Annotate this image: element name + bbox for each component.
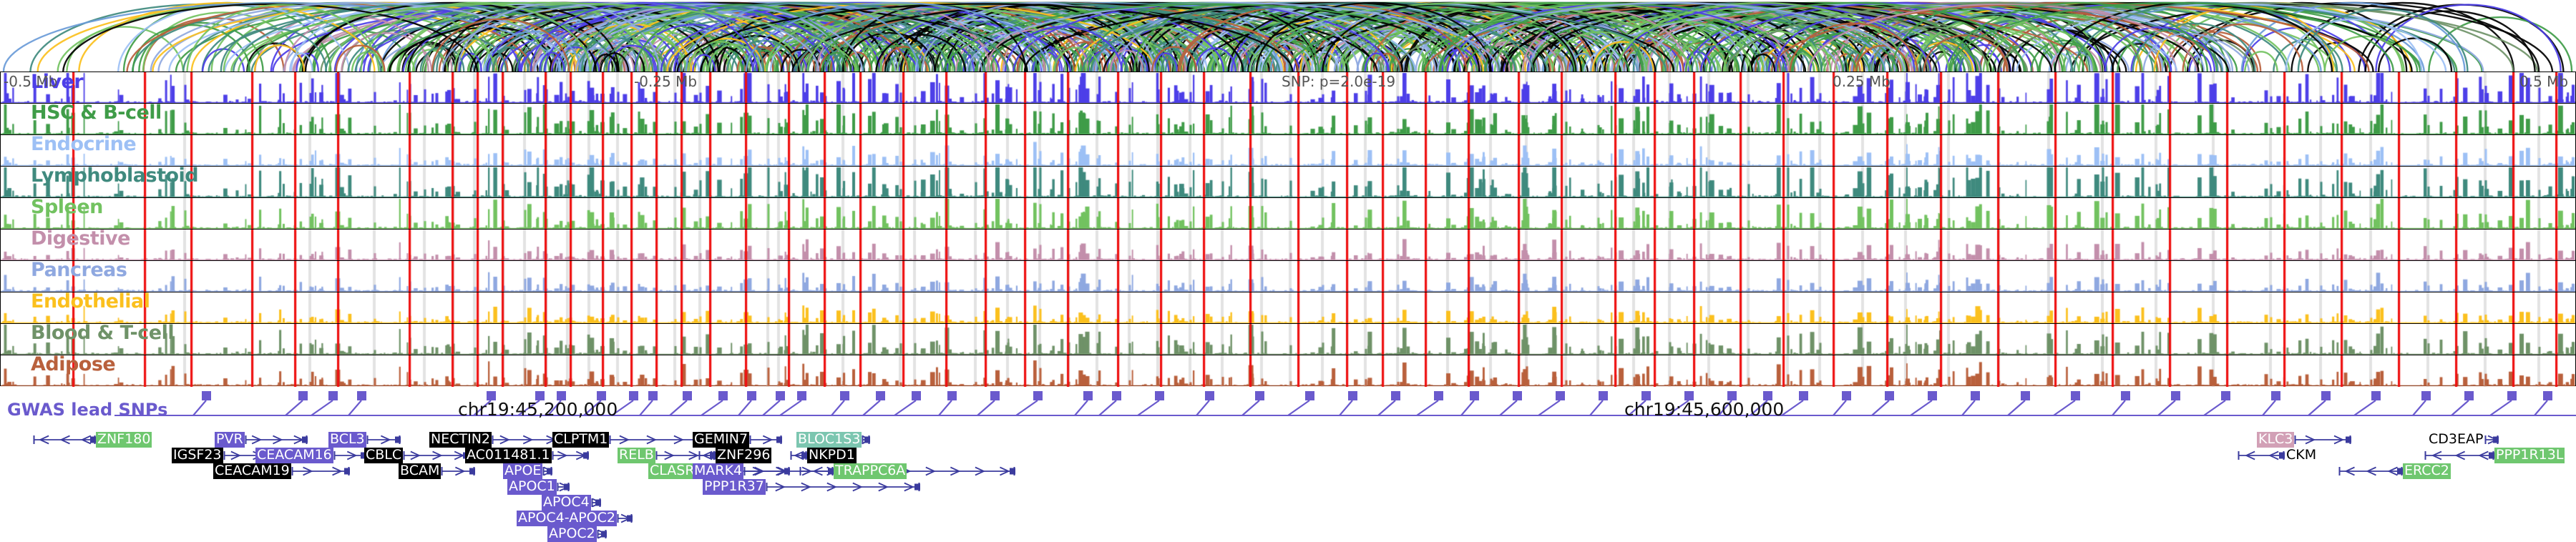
gene-apoc4-apoc2[interactable]: APOC4-APOC2	[517, 511, 633, 526]
gene-apoc1[interactable]: APOC1	[507, 479, 570, 494]
gene-apoc4[interactable]: APOC4	[542, 495, 601, 510]
track-row-lymphoblastoid[interactable]: Lymphoblastoid	[1, 167, 2575, 198]
genome-browser: Liver-0.5 Mb-0.25 MbSNP: p=2.0e-190.25 M…	[0, 0, 2576, 536]
gene-bcam[interactable]: BCAM	[399, 463, 475, 478]
gene-body-icon	[766, 481, 920, 493]
gene-body-icon	[617, 512, 633, 525]
gene-body-icon	[441, 465, 475, 478]
gene-label: NECTIN2	[429, 432, 492, 448]
gene-cd3eap[interactable]: CD3EAP	[2427, 432, 2499, 447]
track-row-hsc-b-cell[interactable]: HSC & B-cell	[1, 104, 2575, 135]
gene-label: APOC4-APOC2	[517, 511, 617, 526]
gene-znf296[interactable]: ZNF296	[698, 448, 771, 463]
gene-ckm[interactable]: CKM	[2238, 448, 2318, 463]
gene-label: ERCC2	[2403, 463, 2451, 479]
gene-gemin7[interactable]: GEMIN7	[693, 432, 782, 447]
gene-trappc6a[interactable]: TRAPPC6A	[799, 463, 907, 478]
gene-body-icon	[591, 496, 601, 509]
gene-klc3[interactable]: KLC3	[2257, 432, 2351, 447]
gene-body-icon	[33, 433, 96, 446]
track-signal-canvas	[1, 230, 2575, 261]
gene-label: APOC1	[507, 479, 557, 495]
track-signal-canvas	[1, 167, 2575, 198]
locus-label-right: chr19:45,600,000	[1624, 399, 1784, 420]
gene-label: KLC3	[2257, 432, 2294, 448]
track-row-digestive[interactable]: Digestive	[1, 230, 2575, 261]
gene-apoe[interactable]: APOE	[503, 463, 552, 478]
gene-znf180[interactable]: ZNF180	[33, 432, 152, 447]
gene-ercc2[interactable]: ERCC2	[2338, 463, 2451, 478]
gene-label: CBLC	[364, 448, 403, 463]
gwas-snp-marks[interactable]	[0, 387, 2576, 430]
track-signal-canvas	[1, 261, 2575, 292]
track-signal-canvas	[1, 355, 2575, 387]
gene-label: CEACAM19	[213, 463, 291, 479]
track-signal-canvas	[1, 198, 2575, 230]
track-row-adipose[interactable]: Adipose	[1, 355, 2575, 387]
gene-apoc2[interactable]: APOC2	[547, 526, 607, 541]
gene-label: NKPD1	[807, 448, 857, 463]
gene-label: BCAM	[399, 463, 441, 479]
gene-body-icon	[2484, 433, 2499, 446]
track-signal-canvas	[1, 135, 2575, 167]
gene-body-icon	[799, 465, 834, 478]
locus-label-left: chr19:45,200,000	[458, 399, 618, 420]
gene-ppp1r13l[interactable]: PPP1R13L	[2424, 448, 2565, 463]
gene-label: APOE	[503, 463, 542, 479]
gene-body-icon	[2294, 433, 2351, 446]
track-row-blood-t-cell[interactable]: Blood & T-cell	[1, 324, 2575, 355]
gene-ceacam19[interactable]: CEACAM19	[213, 463, 350, 478]
gene-label: CD3EAP	[2427, 432, 2484, 448]
gene-label: PVR	[215, 432, 245, 448]
track-row-spleen[interactable]: Spleen	[1, 198, 2575, 230]
track-signal-canvas	[1, 324, 2575, 355]
gene-label: GEMIN7	[693, 432, 749, 448]
track-signal-canvas	[1, 104, 2575, 135]
arc-svg	[0, 0, 2576, 72]
gene-cblc[interactable]: CBLC	[364, 448, 469, 463]
track-row-endocrine[interactable]: Endocrine	[1, 135, 2575, 167]
gene-body-icon	[2238, 449, 2285, 462]
gene-label: ZNF180	[96, 432, 152, 448]
gene-bloc1s3[interactable]: BLOC1S3	[796, 432, 870, 447]
gene-annotation-track[interactable]: chr19:45,200,000chr19:45,600,000ZNF180IG…	[0, 428, 2576, 536]
ruler-label-3: 0.25 Mb	[1833, 73, 1890, 90]
ruler-label-1: -0.25 Mb	[634, 73, 697, 90]
gene-body-icon	[557, 481, 570, 493]
gene-body-icon	[552, 449, 589, 462]
ruler-label-0: -0.5 Mb	[4, 73, 57, 90]
gene-label: CEACAM16	[255, 448, 333, 463]
gene-body-icon	[291, 465, 350, 478]
ruler-label-2: SNP: p=2.0e-19	[1282, 73, 1395, 90]
gene-label: RELB	[618, 448, 655, 463]
gene-label: MARK4	[693, 463, 743, 479]
gene-body-icon	[366, 433, 401, 446]
gene-label: TRAPPC6A	[834, 463, 907, 479]
gene-body-icon	[403, 449, 469, 462]
track-signal-canvas	[1, 292, 2575, 324]
gene-pvr[interactable]: PVR	[215, 432, 308, 447]
gene-label: PPP1R13L	[2494, 448, 2565, 463]
signal-track-panel[interactable]: Liver-0.5 Mb-0.25 MbSNP: p=2.0e-190.25 M…	[0, 72, 2576, 386]
gene-label: IGSF23	[172, 448, 223, 463]
gene-body-icon	[597, 528, 607, 541]
gene-label: CLPTM1	[552, 432, 609, 448]
gwas-track-label: GWAS lead SNPs	[7, 400, 167, 420]
gene-body-icon	[333, 449, 366, 462]
track-row-endothelial[interactable]: Endothelial	[1, 292, 2575, 324]
gene-label: CKM	[2285, 448, 2318, 463]
ruler-label-4: 0.5 Mb	[2519, 73, 2568, 90]
gene-ac011481-1[interactable]: AC011481.1	[465, 448, 589, 463]
gene-body-icon	[2424, 449, 2494, 462]
gene-bcl3[interactable]: BCL3	[328, 432, 401, 447]
gene-label: BCL3	[328, 432, 366, 448]
gene-body-icon	[698, 449, 716, 462]
gene-body-icon	[790, 449, 807, 462]
gene-body-icon	[2338, 465, 2403, 478]
gene-body-icon	[245, 433, 308, 446]
gwas-lead-snps-track[interactable]: GWAS lead SNPs	[0, 387, 2576, 430]
gene-nkpd1[interactable]: NKPD1	[790, 448, 857, 463]
gene-label: BLOC1S3	[796, 432, 862, 448]
gene-label: ZNF296	[716, 448, 771, 463]
track-row-liver[interactable]: Liver-0.5 Mb-0.25 MbSNP: p=2.0e-190.25 M…	[1, 72, 2575, 104]
gene-ceacam16[interactable]: CEACAM16	[255, 448, 366, 463]
chromatin-interaction-arcs	[0, 0, 2576, 72]
gene-label: APOC4	[542, 495, 591, 511]
gene-label: APOC2	[547, 526, 597, 542]
gene-label: AC011481.1	[465, 448, 552, 463]
track-row-pancreas[interactable]: Pancreas	[1, 261, 2575, 292]
gene-body-icon	[542, 465, 552, 478]
gene-body-icon	[749, 433, 782, 446]
gene-body-icon	[862, 433, 870, 446]
gene-label: PPP1R37	[703, 479, 766, 495]
gene-ppp1r37[interactable]: PPP1R37	[703, 479, 920, 494]
